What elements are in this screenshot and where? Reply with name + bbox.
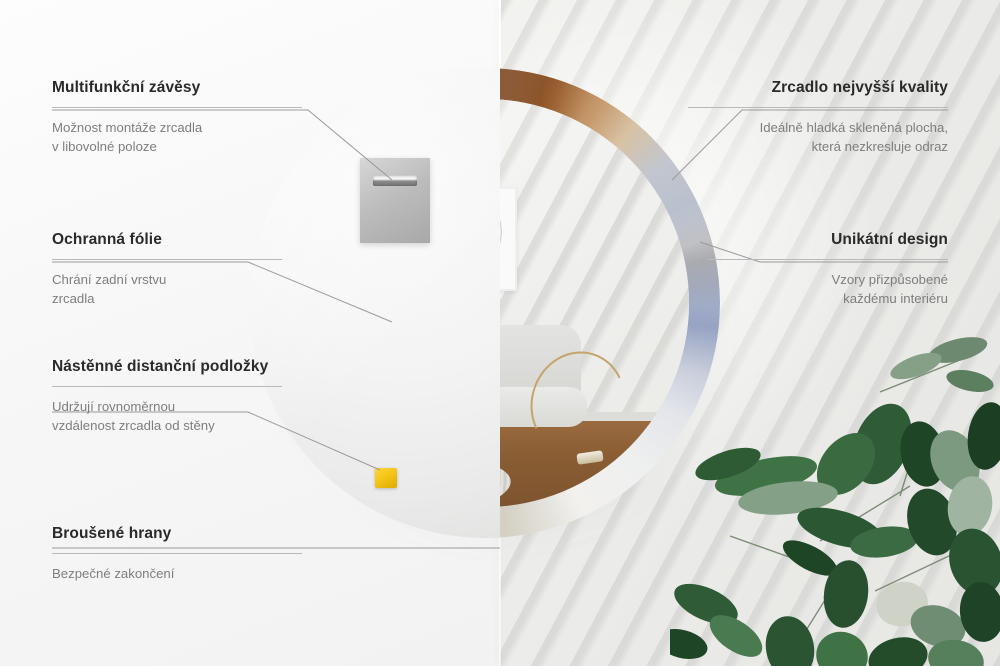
yellow-spacer-pad [375,468,397,488]
callout-rule [52,386,282,387]
callout-title: Ochranná fólie [52,230,282,250]
callout-wall-spacers: Nástěnné distanční podložky Udržují rovn… [52,357,282,435]
callout-title: Zrcadlo nejvyšší kvality [688,78,948,98]
callout-highest-quality-mirror: Zrcadlo nejvyšší kvality Ideálně hladká … [688,78,948,156]
callout-body: Bezpečné zakončení [52,565,302,584]
callout-title: Nástěnné distanční podložky [52,357,282,377]
callout-unique-design: Unikátní design Vzory přizpůsobenékaždém… [708,230,948,308]
callout-title: Unikátní design [708,230,948,250]
callout-body: Možnost montáže zrcadlav libovolné poloz… [52,119,302,156]
callout-rule [688,107,948,108]
hanger-plate [360,158,430,243]
callout-body: Chrání zadní vrstvuzrcadla [52,271,282,308]
leaf-cluster [670,336,1000,666]
callout-protective-foil: Ochranná fólie Chrání zadní vrstvuzrcadl… [52,230,282,308]
hanger-keyhole-slot [373,175,417,186]
callout-title: Multifunkční závěsy [52,78,302,98]
mirror-body [250,68,720,538]
callout-body: Vzory přizpůsobenékaždému interiéru [708,271,948,308]
decorative-foliage [670,336,1000,666]
callout-multifunctional-hangers: Multifunkční závěsy Možnost montáže zrca… [52,78,302,156]
callout-rule [52,553,302,554]
infographic-canvas: Multifunkční závěsy Možnost montáže zrca… [0,0,1000,666]
callout-body: Udržují rovnoměrnouvzdálenost zrcadla od… [52,398,282,435]
callout-rule [52,107,302,108]
callout-rule [708,259,948,260]
callout-title: Broušené hrany [52,524,302,544]
callout-polished-edges: Broušené hrany Bezpečné zakončení [52,524,302,584]
callout-body: Ideálně hladká skleněná plocha,která nez… [688,119,948,156]
callout-rule [52,259,282,260]
product-mirror [250,68,720,538]
